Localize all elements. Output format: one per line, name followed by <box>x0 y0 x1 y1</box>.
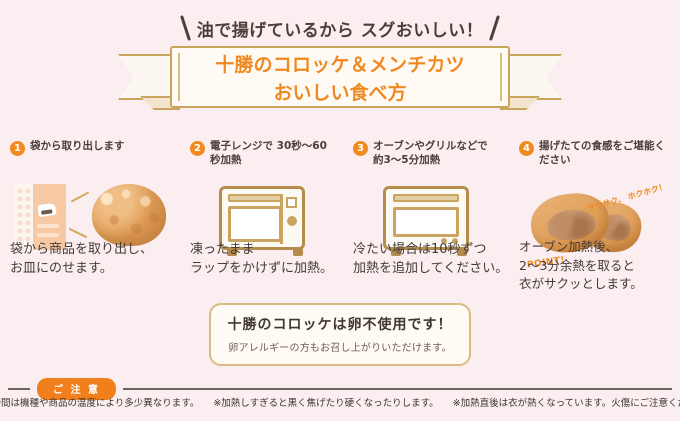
step-2-title: 電子レンジで 30秒〜60秒加熱 <box>210 140 333 168</box>
step-4-title: 揚げたての食感をご堪能ください <box>539 140 670 168</box>
package-logo-icon <box>37 203 56 217</box>
microwave-top-bar <box>228 194 282 202</box>
step-4-number-badge: 4 <box>519 141 534 156</box>
croquette-icon <box>92 184 166 246</box>
step-4-description: オーブン加熱後、 2〜3分余熱を取ると 衣がサクッとします。 <box>519 238 643 294</box>
step-3-description: 冷たい場合は10秒ずつ 加熱を追加してください。 <box>353 240 508 278</box>
step-1-title: 袋から取り出します <box>30 140 125 154</box>
step-2-description: 凍ったまま ラップをかけずに加熱。 <box>190 240 333 278</box>
step-4: 4 揚げたての食感をご堪能ください サクサク、 ホクホク！ POINT! オーブ… <box>509 140 680 300</box>
step-1-description: 袋から商品を取り出し、 お皿にのせます。 <box>10 240 153 278</box>
step-1-illustration <box>10 160 170 244</box>
step-2-number-badge: 2 <box>190 141 205 156</box>
toaster-window <box>393 207 459 237</box>
step-1-number-badge: 1 <box>10 141 25 156</box>
ribbon-title-line2: おいしい食べ方 <box>273 78 406 105</box>
microwave-display <box>286 197 297 208</box>
tagline-row: 油で揚げているから スグおいしい！ <box>0 10 680 46</box>
step-4-head: 4 揚げたての食感をご堪能ください <box>519 140 670 168</box>
microwave-control-panel <box>280 194 297 244</box>
caution-note: ※加熱直後は衣が熱くなっています。火傷にご注意ください。 <box>453 395 680 409</box>
caution-rule-right <box>123 388 672 390</box>
package-text-bar <box>37 224 59 228</box>
toaster-top-bar <box>393 194 459 202</box>
step-3: 3 オーブンやグリルなどで 約3〜5分加熱 冷たい場合は10秒ずつ 加熱を追加し… <box>343 140 509 300</box>
package-text-bar <box>37 233 59 237</box>
microwave-window <box>228 206 282 242</box>
steps-row: 1 袋から取り出します 袋から商品を取り出し、 お皿にのせます。 2 <box>0 140 680 300</box>
notice-subtitle: 卵アレルギーの方もお召し上がりいただけます。 <box>221 339 459 354</box>
microwave-knob-icon <box>287 216 297 226</box>
step-2-head: 2 電子レンジで 30秒〜60秒加熱 <box>190 140 333 168</box>
ribbon-banner: 十勝のコロッケ＆メンチカツ おいしい食べ方 <box>170 46 510 108</box>
dash-line-icon <box>69 228 88 239</box>
step-3-head: 3 オーブンやグリルなどで 約3〜5分加熱 <box>353 140 499 168</box>
step-3-title: オーブンやグリルなどで 約3〜5分加熱 <box>373 140 499 168</box>
ribbon-title-line1: 十勝のコロッケ＆メンチカツ <box>215 50 465 77</box>
step-1: 1 袋から取り出します 袋から商品を取り出し、 お皿にのせます。 <box>0 140 180 300</box>
tagline-text: 油で揚げているから スグおいしい！ <box>197 16 483 41</box>
slash-right-icon <box>489 15 500 41</box>
step-2: 2 電子レンジで 30秒〜60秒加熱 凍ったまま ラップをかけずに加熱。 <box>180 140 343 300</box>
package-dot-pattern <box>16 187 31 245</box>
slash-left-icon <box>180 15 191 41</box>
egg-free-notice-box: 十勝のコロッケは卵不使用です！ 卵アレルギーの方もお召し上がりいただけます。 <box>209 303 471 366</box>
notice-title: 十勝のコロッケは卵不使用です！ <box>221 314 459 334</box>
caution-note: ※加熱しすぎると黒く焦げたり硬くなったりします。 <box>213 395 438 409</box>
caution-notes: ※調理時間は機種や商品の温度により多少異なります。 ※加熱しすぎると黒く焦げたり… <box>0 395 680 409</box>
caution-rule-left <box>8 388 30 390</box>
dash-line-icon <box>71 191 90 202</box>
ribbon-body: 十勝のコロッケ＆メンチカツ おいしい食べ方 <box>170 46 510 108</box>
promo-page: 油で揚げているから スグおいしい！ 十勝のコロッケ＆メンチカツ おいしい食べ方 … <box>0 0 680 421</box>
step-1-head: 1 袋から取り出します <box>10 140 170 156</box>
caution-note: ※調理時間は機種や商品の温度により多少異なります。 <box>0 395 199 409</box>
step-3-number-badge: 3 <box>353 141 368 156</box>
